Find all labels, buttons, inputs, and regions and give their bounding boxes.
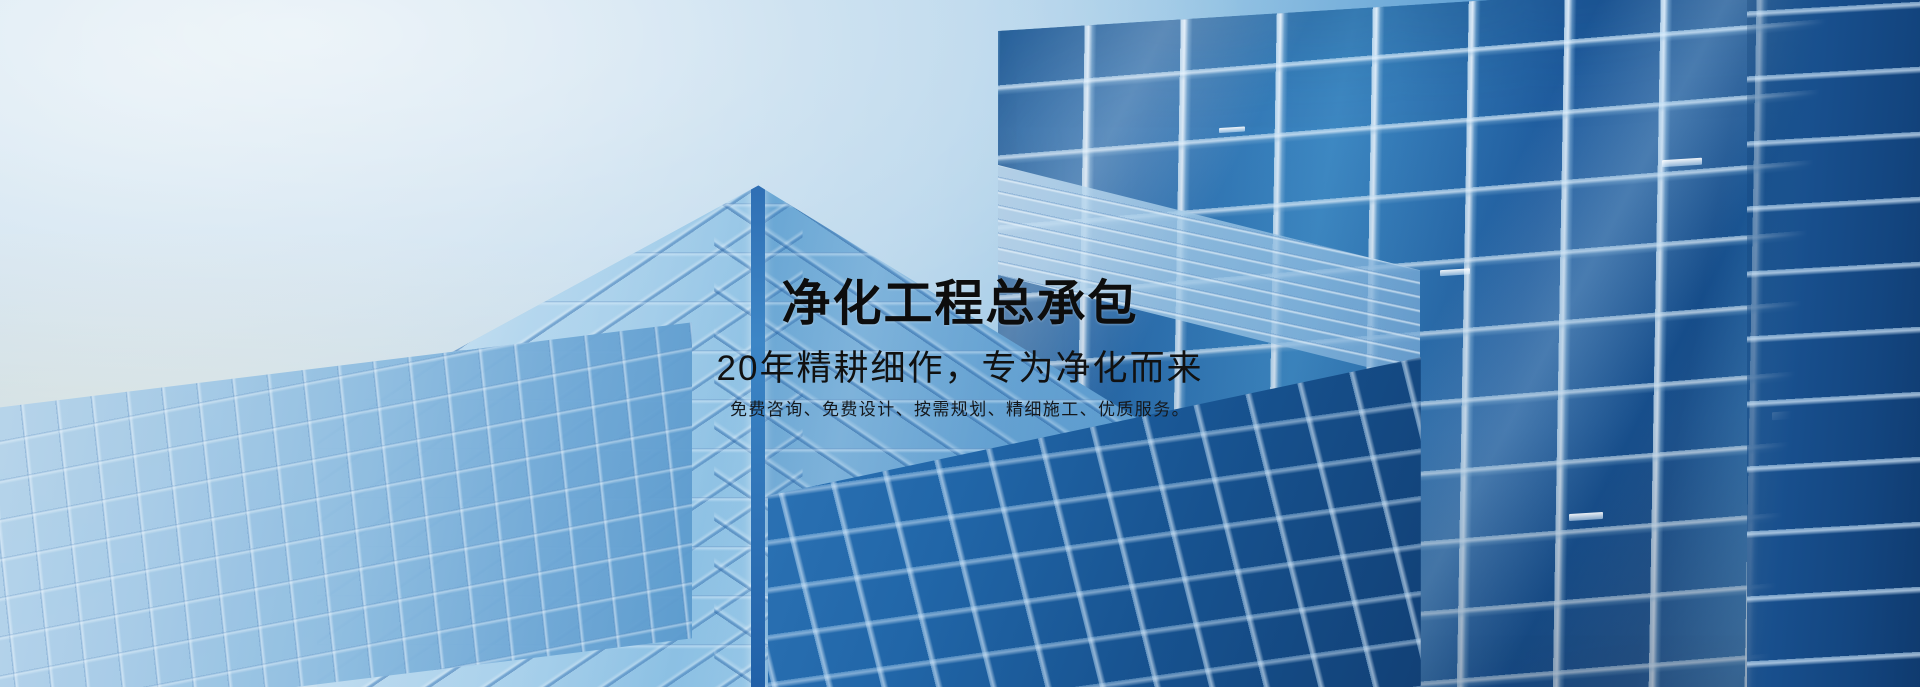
hero-banner: 净化工程总承包 20年精耕细作，专为净化而来 免费咨询、免费设计、按需规划、精细… (0, 0, 1920, 687)
banner-copy: 净化工程总承包 20年精耕细作，专为净化而来 免费咨询、免费设计、按需规划、精细… (0, 276, 1920, 422)
banner-headline: 净化工程总承包 (0, 276, 1920, 334)
pyramid-ridge-spine (751, 185, 765, 687)
banner-subline: 20年精耕细作，专为净化而来 (0, 348, 1920, 390)
banner-tagline: 免费咨询、免费设计、按需规划、精细施工、优质服务。 (0, 399, 1920, 422)
